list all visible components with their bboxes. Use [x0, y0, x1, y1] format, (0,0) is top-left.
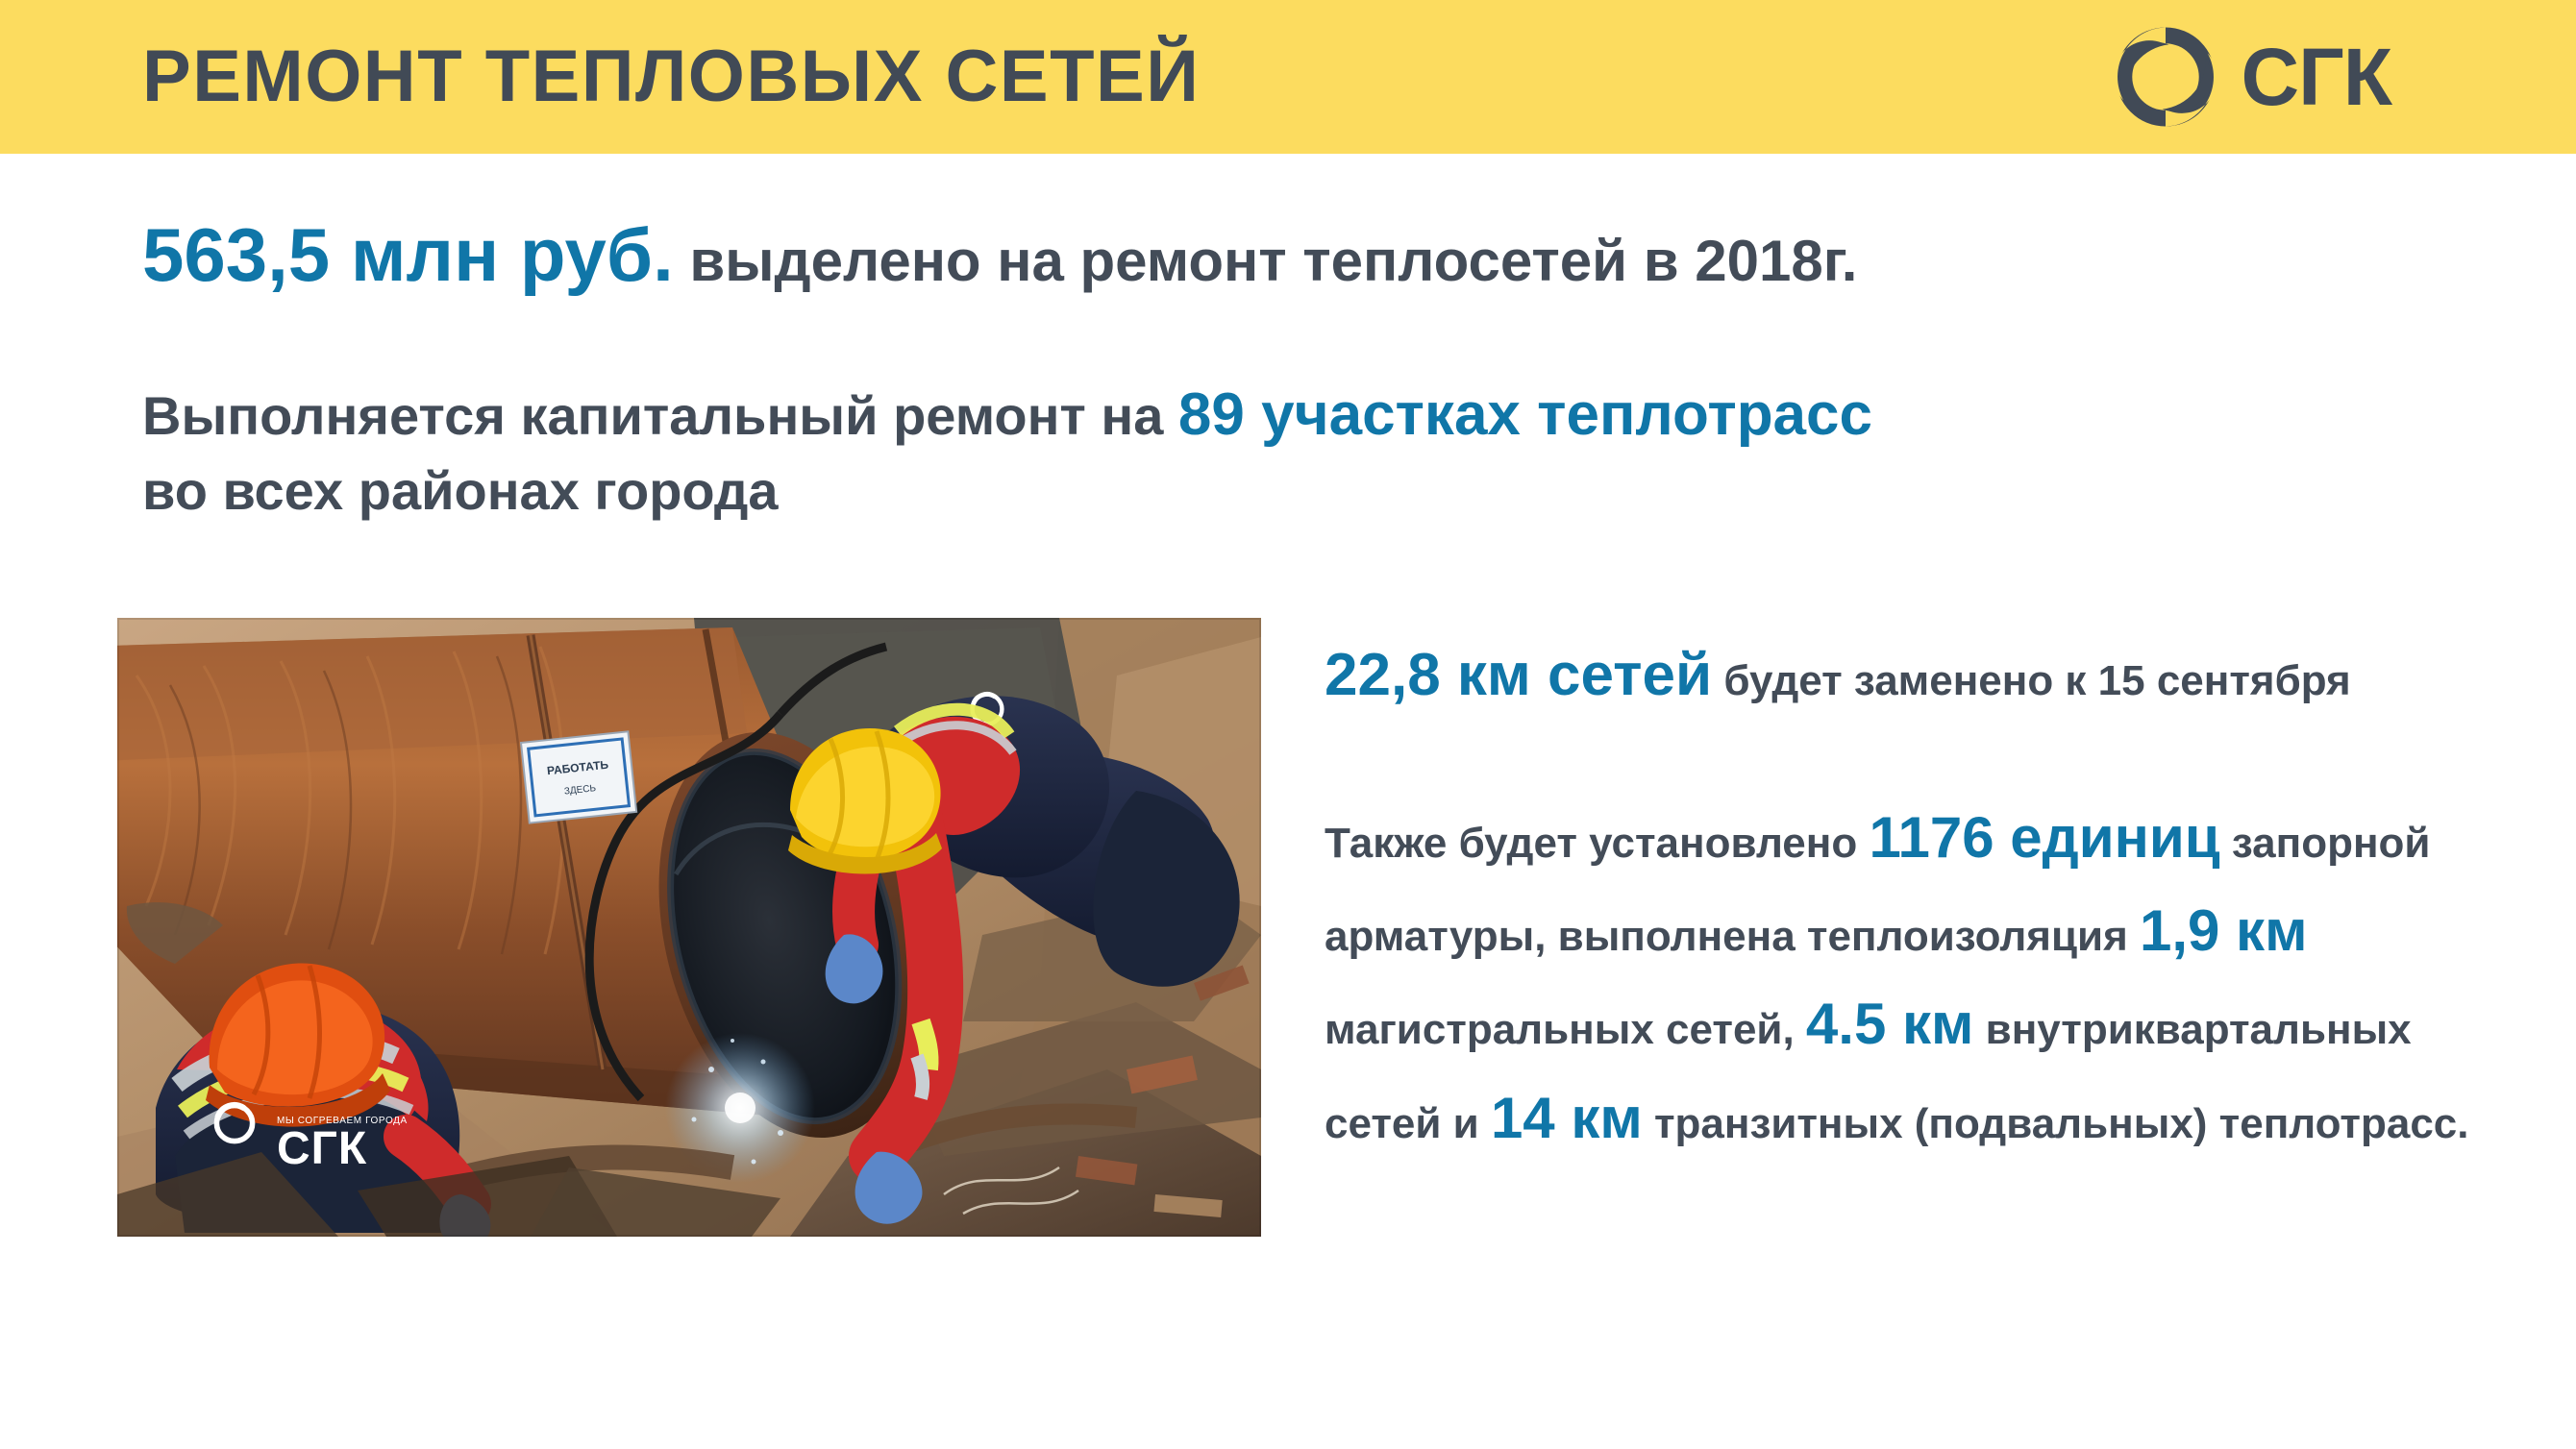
- installation-block-value: 4.5 км: [1806, 992, 1974, 1056]
- installation-mid2: магистральных сетей,: [1325, 1006, 1806, 1053]
- subhead-tail: во всех районах города: [142, 460, 779, 521]
- replacement-rest: будет заменено к 15 сентября: [1712, 657, 2351, 704]
- sgk-swirl-icon: [2112, 23, 2219, 131]
- headline-amount: 563,5 млн руб.: [142, 212, 674, 297]
- installation-tail: транзитных (подвальных) теплотрасс.: [1643, 1100, 2469, 1147]
- installation-transit-value: 14 км: [1491, 1086, 1643, 1150]
- replacement-highlight: 22,8 км сетей: [1325, 642, 1712, 708]
- repair-photo-illustration: РАБОТАТЬ ЗДЕСЬ: [117, 618, 1261, 1237]
- installation-paragraph: Также будет установлено 1176 единиц запо…: [1325, 791, 2478, 1165]
- sgk-logo: СГК: [2112, 23, 2391, 131]
- installation-lead: Также будет установлено: [1325, 820, 1869, 867]
- headline-rest: выделено на ремонт теплосетей в 2018г.: [674, 229, 1858, 293]
- repair-photo: РАБОТАТЬ ЗДЕСЬ: [117, 618, 1261, 1237]
- sgk-logo-wordmark: СГК: [2241, 37, 2391, 117]
- headline: 563,5 млн руб. выделено на ремонт теплос…: [142, 213, 2449, 297]
- subhead: Выполняется капитальный ремонт на 89 уча…: [142, 375, 2468, 527]
- subhead-lead: Выполняется капитальный ремонт на: [142, 385, 1178, 446]
- installation-units-value: 1176 единиц: [1869, 805, 2219, 870]
- right-column: 22,8 км сетей будет заменено к 15 сентяб…: [1325, 588, 2478, 1207]
- subhead-highlight: 89 участках теплотрасс: [1178, 381, 1872, 448]
- page-title: РЕМОНТ ТЕПЛОВЫХ СЕТЕЙ: [142, 40, 1200, 113]
- svg-text:СГК: СГК: [277, 1123, 367, 1174]
- replacement-paragraph: 22,8 км сетей будет заменено к 15 сентяб…: [1325, 630, 2478, 720]
- header-band: РЕМОНТ ТЕПЛОВЫХ СЕТЕЙ СГК: [0, 0, 2576, 154]
- installation-trunk-value: 1,9 км: [2140, 898, 2308, 963]
